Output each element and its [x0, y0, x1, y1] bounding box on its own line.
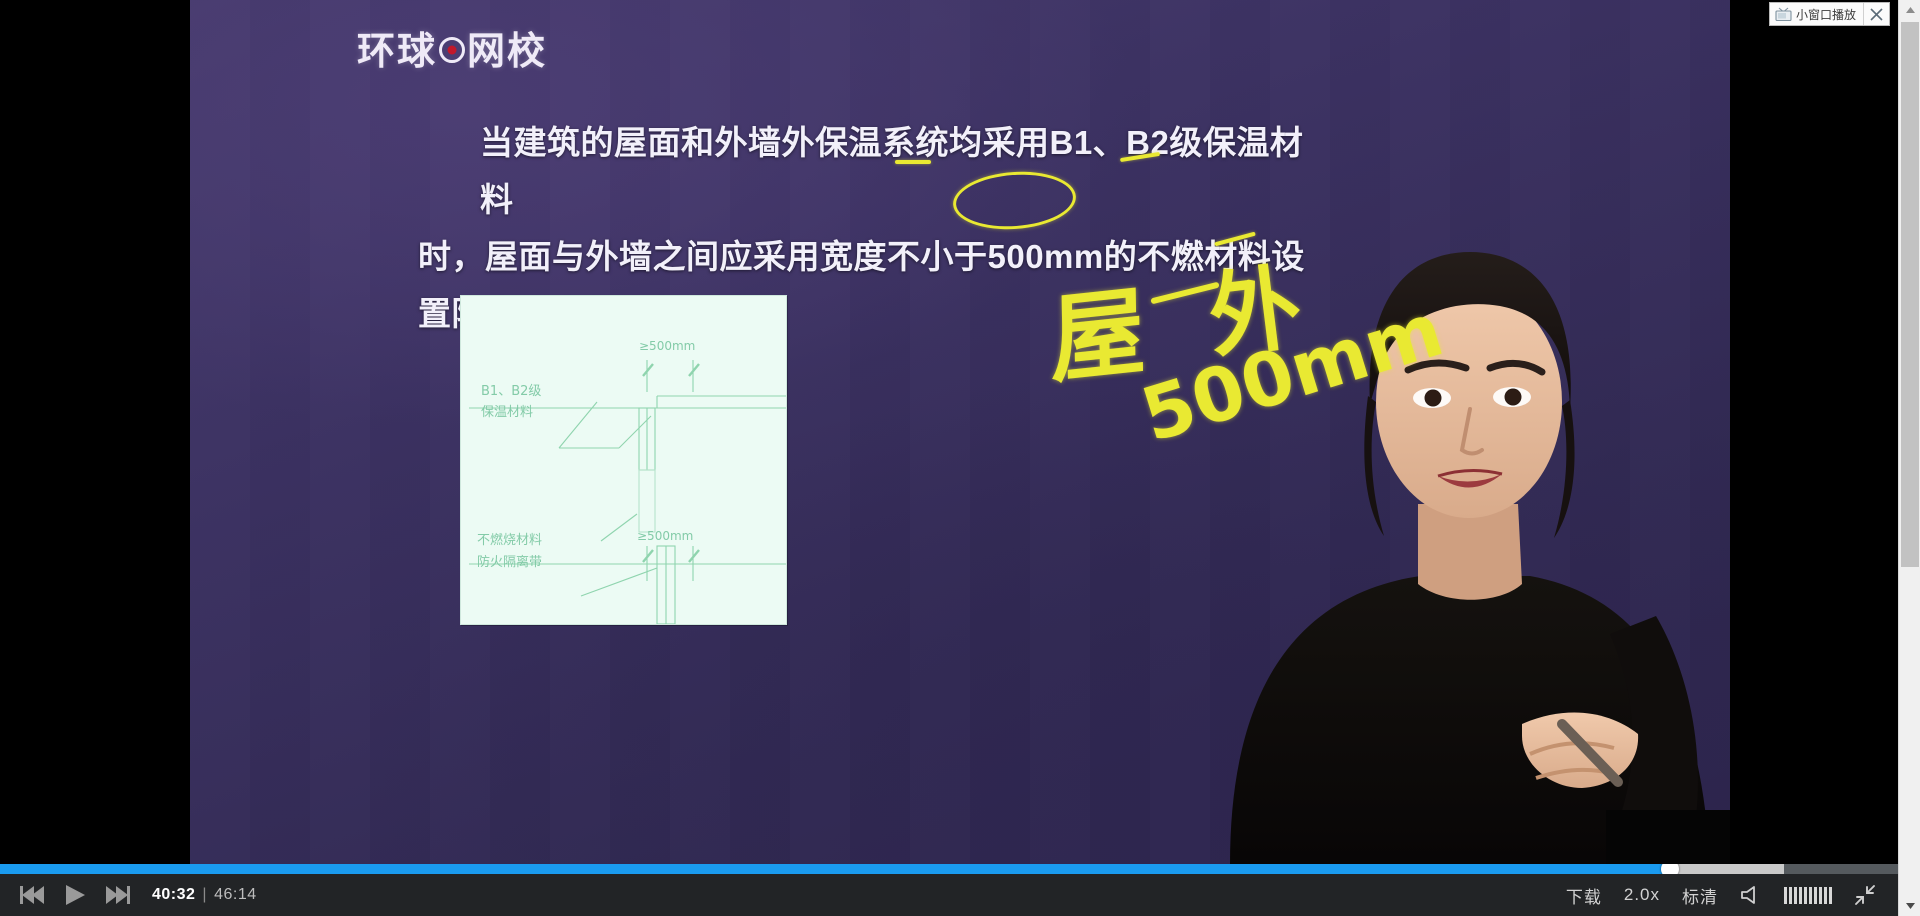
playback-speed-button[interactable]: 2.0x	[1624, 885, 1660, 905]
download-button[interactable]: 下载	[1566, 883, 1602, 908]
total-duration: 46:14	[214, 886, 257, 904]
next-button[interactable]	[96, 874, 138, 916]
video-content[interactable]: 环球 网校 当建筑的屋面和外墙外保温系统均采用B1、B2级保温材料 时，屋面与外…	[190, 0, 1730, 864]
tv-icon	[1775, 7, 1792, 22]
diagram-label-b-grade: B1、B2级	[481, 384, 541, 399]
page-scrollbar[interactable]	[1898, 0, 1920, 916]
scroll-thumb[interactable]	[1901, 22, 1919, 567]
slide-line-2: 时，屋面与外墙之间应采用宽度不小于500mm的不燃材料设	[418, 228, 1318, 285]
logo-text-left: 环球	[357, 20, 437, 75]
time-display: 40:32 | 46:14	[152, 886, 257, 904]
scroll-down-button[interactable]	[1899, 896, 1920, 916]
exit-fullscreen-button[interactable]	[1854, 884, 1876, 906]
quality-button[interactable]: 标清	[1682, 883, 1718, 908]
pip-playback-label: 小窗口播放	[1796, 6, 1856, 23]
player-controls: 40:32 | 46:14 下载 2.0x 标清	[0, 874, 1898, 916]
construction-detail-diagram: B1、B2级 保温材料 不燃烧材料 防火隔离带 ≥500mm ≥500mm	[460, 295, 787, 625]
progress-played	[0, 864, 1670, 874]
pip-playback-button[interactable]: 小窗口播放	[1770, 3, 1863, 25]
logo-ring-icon	[439, 37, 465, 63]
pip-close-button[interactable]	[1863, 3, 1889, 25]
play-icon	[63, 883, 87, 907]
volume-button[interactable]	[1740, 885, 1762, 905]
play-button[interactable]	[54, 874, 96, 916]
logo-text-right: 网校	[467, 20, 547, 75]
current-time: 40:32	[152, 886, 195, 904]
close-icon	[1870, 8, 1883, 21]
diagram-label-b-material: 保温材料	[481, 405, 533, 420]
previous-button[interactable]	[12, 874, 54, 916]
diagram-svg: B1、B2级 保温材料 不燃烧材料 防火隔离带 ≥500mm ≥500mm	[461, 296, 787, 625]
playback-controls-group: 40:32 | 46:14	[0, 874, 257, 916]
volume-icon	[1740, 885, 1762, 905]
diagram-label-noncombustible: 不燃烧材料	[477, 532, 542, 548]
progress-bar-track[interactable]	[0, 864, 1898, 874]
diagram-dim-top: ≥500mm	[639, 339, 695, 353]
time-separator: |	[202, 886, 207, 904]
diagram-dim-bottom: ≥500mm	[637, 529, 693, 543]
slide-line-1: 当建筑的屋面和外墙外保温系统均采用B1、B2级保温材料	[418, 114, 1318, 228]
previous-track-icon	[20, 885, 46, 905]
app-root: 环球 网校 当建筑的屋面和外墙外保温系统均采用B1、B2级保温材料 时，屋面与外…	[0, 0, 1920, 916]
scroll-down-arrow-icon	[1905, 902, 1916, 910]
pip-playback-bar[interactable]: 小窗口播放	[1769, 2, 1890, 26]
diagram-label-firebreak: 防火隔离带	[477, 554, 542, 570]
brand-logo: 环球 网校	[357, 20, 547, 75]
exit-fullscreen-icon	[1854, 884, 1876, 906]
volume-level-meter[interactable]	[1784, 887, 1832, 904]
video-stage[interactable]: 环球 网校 当建筑的屋面和外墙外保温系统均采用B1、B2级保温材料 时，屋面与外…	[0, 0, 1898, 864]
scroll-up-button[interactable]	[1899, 0, 1920, 20]
right-controls-group: 下载 2.0x 标清	[1566, 883, 1898, 908]
progress-buffered	[1670, 864, 1784, 874]
next-track-icon	[104, 885, 130, 905]
annotation-underline-1	[895, 160, 931, 164]
scroll-up-arrow-icon	[1905, 6, 1916, 14]
